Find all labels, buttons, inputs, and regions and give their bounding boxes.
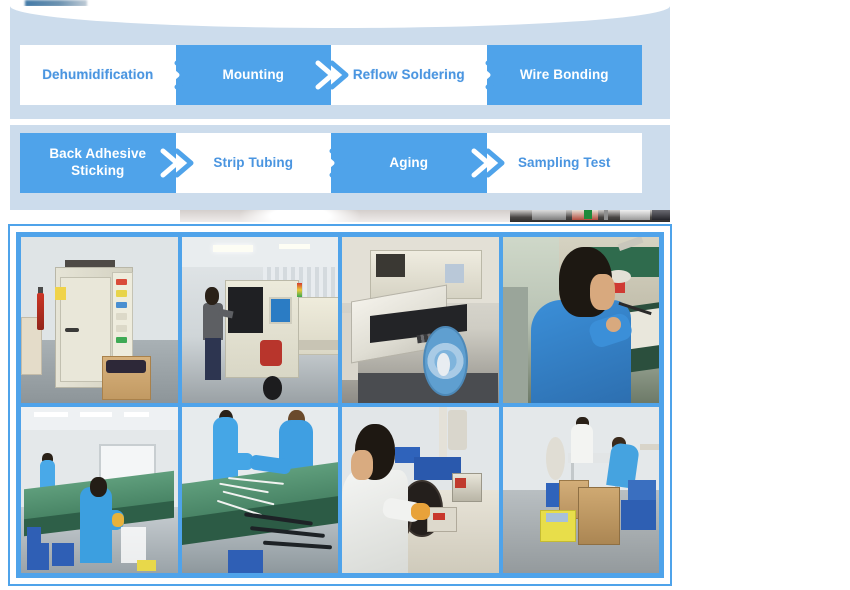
process-step-label: Aging xyxy=(383,155,434,172)
photo-wire-bonding[interactable] xyxy=(501,235,662,405)
gallery-grid xyxy=(16,232,664,578)
process-step-label: Wire Bonding xyxy=(514,67,615,84)
process-flow-row-2: Back Adhesive Sticking Strip Tubing Agin… xyxy=(20,133,642,193)
process-step-aging[interactable]: Aging xyxy=(331,133,487,193)
infographic-page: Dehumidification Mounting Reflow Solderi… xyxy=(0,0,850,590)
photo-sampling-test[interactable] xyxy=(340,405,501,575)
process-step-label: Sampling Test xyxy=(512,155,617,172)
process-step-strip-tubing[interactable]: Strip Tubing xyxy=(176,133,332,193)
process-step-label: Strip Tubing xyxy=(207,155,299,172)
photo-strip-tubing[interactable] xyxy=(180,405,341,575)
process-step-label: Reflow Soldering xyxy=(347,67,471,84)
process-step-sampling-test[interactable]: Sampling Test xyxy=(487,133,643,193)
process-flow-row-1: Dehumidification Mounting Reflow Solderi… xyxy=(20,45,642,105)
process-step-dehumidification[interactable]: Dehumidification xyxy=(20,45,176,105)
process-step-wire-bonding[interactable]: Wire Bonding xyxy=(487,45,643,105)
photo-packing-area[interactable] xyxy=(501,405,662,575)
process-step-label: Back Adhesive Sticking xyxy=(20,146,176,180)
photo-drying-oven[interactable] xyxy=(19,235,180,405)
process-step-back-adhesive-sticking[interactable]: Back Adhesive Sticking xyxy=(20,133,176,193)
process-step-label: Dehumidification xyxy=(36,67,159,84)
process-step-mounting[interactable]: Mounting xyxy=(176,45,332,105)
factory-photo-gallery xyxy=(8,224,672,586)
photo-assembly-line[interactable] xyxy=(19,405,180,575)
panel-curved-top xyxy=(10,6,670,28)
process-step-label: Mounting xyxy=(216,67,290,84)
photo-reflow-conveyor[interactable] xyxy=(340,235,501,405)
photo-smt-operator[interactable] xyxy=(180,235,341,405)
process-step-reflow-soldering[interactable]: Reflow Soldering xyxy=(331,45,487,105)
